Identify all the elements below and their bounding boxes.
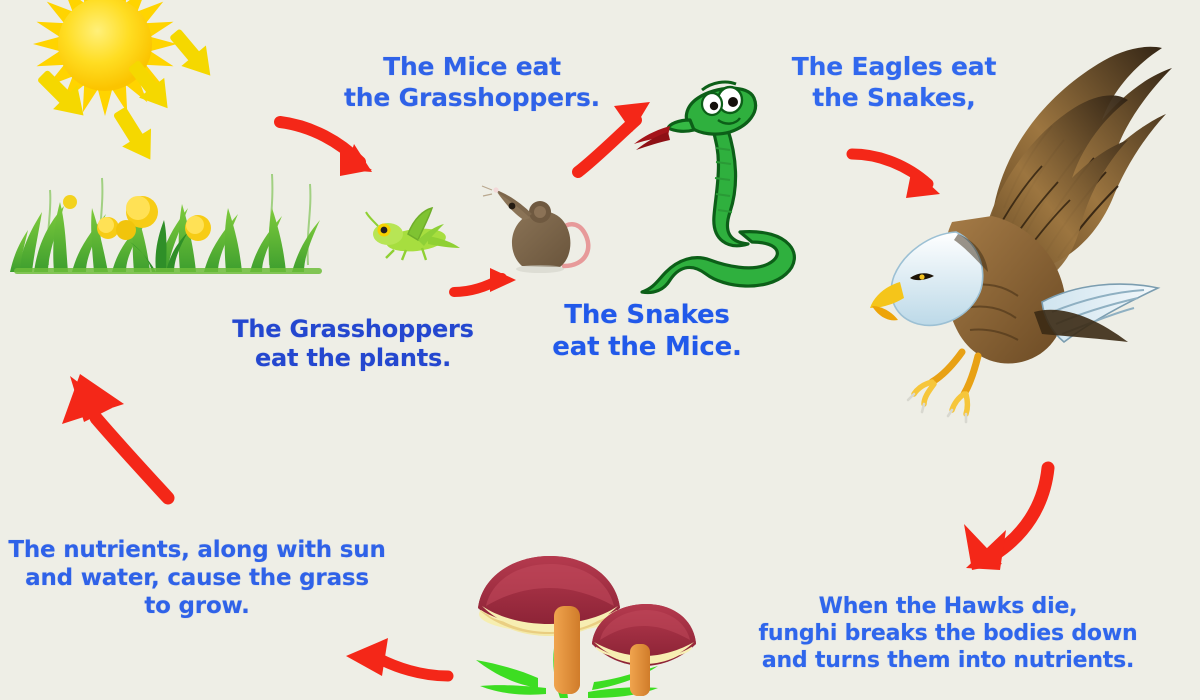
arrow-nutrients-to-grass [50, 356, 182, 512]
mushrooms-illustration [442, 548, 700, 700]
label-hawks-die-fungi: When the Hawks die, funghi breaks the bo… [742, 594, 1154, 674]
grasshopper-illustration [366, 198, 462, 270]
arrow-grass-to-grasshopper [268, 104, 388, 184]
arrow-fungi-to-nutrients [330, 632, 456, 694]
label-grasshoppers-eat-plants: The Grasshoppers eat the plants. [222, 315, 484, 374]
label-eagles-eat-snakes: The Eagles eat the Snakes, [786, 52, 1002, 113]
label-mice-eat-grasshoppers: The Mice eat the Grasshoppers. [338, 52, 606, 113]
arrow-grasshopper-to-mouse [446, 262, 532, 312]
sun-ray-arrow-1 [28, 60, 98, 130]
sun-ray-arrow-4 [158, 20, 228, 90]
arrow-snake-to-eagle [842, 132, 960, 206]
arrow-eagle-to-fungi [948, 452, 1078, 588]
label-snakes-eat-mice: The Snakes eat the Mice. [522, 300, 772, 363]
label-nutrients-grass: The nutrients, along with sun and water,… [2, 536, 392, 620]
food-chain-diagram: The Mice eat the Grasshoppers. The Grass… [0, 0, 1200, 700]
